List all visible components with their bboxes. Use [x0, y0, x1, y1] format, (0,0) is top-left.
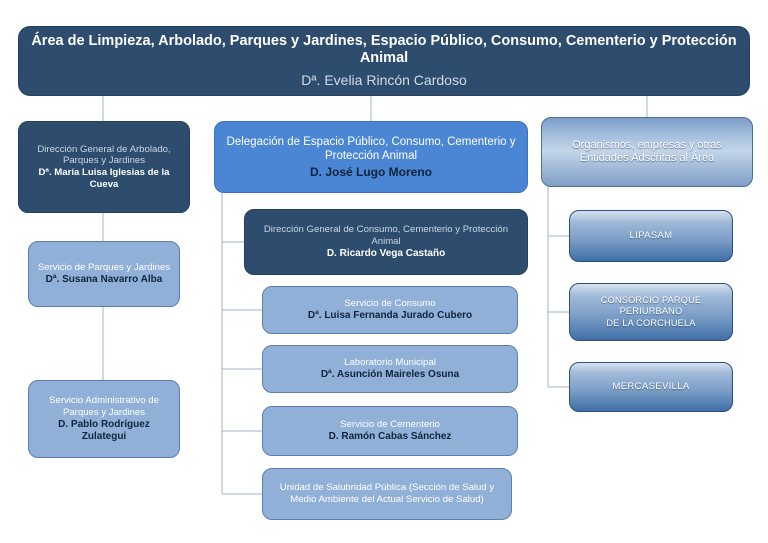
root-person: Dª. Evelia Rincón Cardoso — [27, 72, 741, 89]
consorcio-title-line2: DE LA CORCHUELA — [578, 318, 724, 329]
laboratorio-title: Laboratorio Municipal — [271, 357, 509, 369]
dg-consumo-person: D. Ricardo Vega Castaño — [253, 248, 519, 260]
serv-admin-title-line1: Servicio Administrativo de — [37, 395, 171, 407]
node-direccion-general-arbolado[interactable]: Dirección General de Arbolado, Parques y… — [18, 121, 190, 213]
root-title: Área de Limpieza, Arbolado, Parques y Ja… — [27, 33, 741, 68]
node-consorcio-parque-periurbano[interactable]: CONSORCIO PARQUE PERIURBANO DE LA CORCHU… — [569, 283, 733, 341]
dg-arbolado-title-line2: Parques y Jardines — [27, 155, 181, 167]
node-servicio-cementerio[interactable]: Servicio de Cementerio D. Ramón Cabas Sá… — [262, 406, 518, 456]
dg-arbolado-person-line2: Cueva — [27, 179, 181, 191]
organismos-title-line1: Organismos, empresas y otras — [550, 139, 744, 152]
org-chart: Área de Limpieza, Arbolado, Parques y Ja… — [0, 0, 768, 543]
serv-consumo-person: Dª. Luisa Fernanda Jurado Cubero — [271, 310, 509, 322]
node-servicio-parques-jardines[interactable]: Servicio de Parques y Jardines Dª. Susan… — [28, 241, 180, 307]
serv-cementerio-title: Servicio de Cementerio — [271, 419, 509, 431]
consorcio-title-line1: CONSORCIO PARQUE PERIURBANO — [578, 295, 724, 317]
laboratorio-person: Dª. Asunción Maireles Osuna — [271, 369, 509, 381]
node-area-root[interactable]: Área de Limpieza, Arbolado, Parques y Ja… — [18, 26, 750, 96]
unidad-salud-title-line2: Medio Ambiente del Actual Servicio de Sa… — [271, 494, 503, 506]
dg-arbolado-title-line1: Dirección General de Arbolado, — [27, 144, 181, 156]
node-laboratorio-municipal[interactable]: Laboratorio Municipal Dª. Asunción Maire… — [262, 345, 518, 393]
delegacion-person: D. José Lugo Moreno — [223, 165, 519, 180]
node-servicio-administrativo-parques[interactable]: Servicio Administrativo de Parques y Jar… — [28, 380, 180, 458]
mercasevilla-title: MERCASEVILLA — [578, 381, 724, 393]
dg-arbolado-person-line1: Dª. María Luisa Iglesias de la — [27, 167, 181, 179]
lipasam-title: LIPASAM — [578, 230, 724, 242]
serv-consumo-title: Servicio de Consumo — [271, 298, 509, 310]
dg-consumo-title-line1: Dirección General de Consumo, Cementerio… — [253, 224, 519, 236]
node-direccion-general-consumo[interactable]: Dirección General de Consumo, Cementerio… — [244, 209, 528, 275]
node-delegacion-espacio-publico[interactable]: Delegación de Espacio Público, Consumo, … — [214, 121, 528, 193]
node-lipasam[interactable]: LIPASAM — [569, 210, 733, 262]
node-organismos-entidades[interactable]: Organismos, empresas y otras Entidades A… — [541, 117, 753, 187]
organismos-title-line2: Entidades Adscritas al Área — [550, 152, 744, 165]
node-mercasevilla[interactable]: MERCASEVILLA — [569, 362, 733, 412]
node-servicio-consumo[interactable]: Servicio de Consumo Dª. Luisa Fernanda J… — [262, 286, 518, 334]
serv-parques-person: Dª. Susana Navarro Alba — [37, 274, 171, 286]
unidad-salud-title-line1: Unidad de Salubridad Pública (Sección de… — [271, 482, 503, 494]
serv-parques-title: Servicio de Parques y Jardines — [37, 262, 171, 274]
serv-admin-person: D. Pablo Rodríguez Zulategui — [37, 419, 171, 443]
serv-admin-title-line2: Parques y Jardines — [37, 407, 171, 419]
delegacion-title-line1: Delegación de Espacio Público, Consumo, … — [223, 135, 519, 149]
delegacion-title-line2: Protección Animal — [223, 149, 519, 163]
node-unidad-salubridad-publica[interactable]: Unidad de Salubridad Pública (Sección de… — [262, 468, 512, 520]
serv-cementerio-person: D. Ramón Cabas Sánchez — [271, 431, 509, 443]
dg-consumo-title-line2: Animal — [253, 236, 519, 248]
